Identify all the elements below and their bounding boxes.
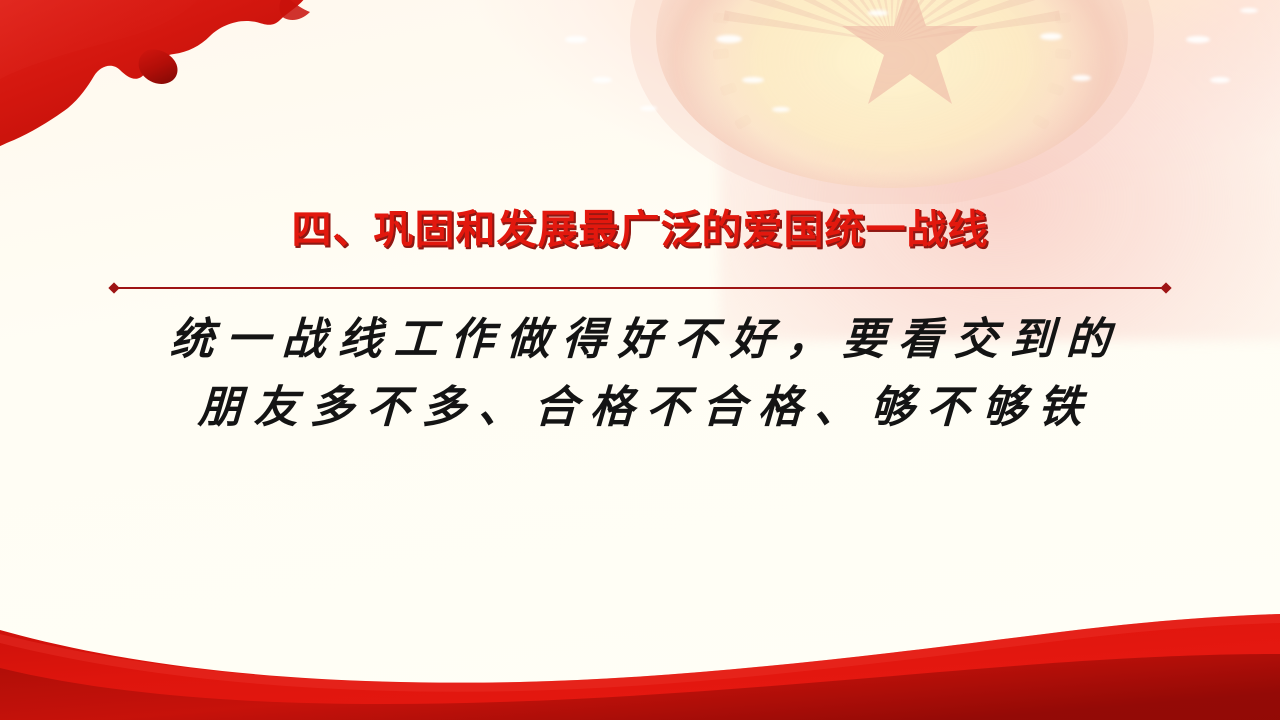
page-title-text: 四、巩固和发展最广泛的爱国统一战线 bbox=[292, 205, 989, 255]
divider-rule bbox=[116, 287, 1164, 289]
quote-line-1: 统一战线工作做得好不好，要看交到的 bbox=[0, 306, 1280, 374]
slide-canvas: 四、巩固和发展最广泛的爱国统一战线 统一战线工作做得好不好，要看交到的 朋友多不… bbox=[0, 0, 1280, 720]
sunburst-star-emblem bbox=[612, 0, 1172, 204]
red-silk-ribbon bbox=[0, 0, 388, 182]
page-title: 四、巩固和发展最广泛的爱国统一战线 bbox=[0, 205, 1280, 255]
divider-diamond-right bbox=[1160, 282, 1171, 293]
quote-block: 统一战线工作做得好不好，要看交到的 朋友多不多、合格不合格、够不够铁 bbox=[0, 306, 1280, 442]
quote-line-2: 朋友多不多、合格不合格、够不够铁 bbox=[0, 374, 1280, 442]
title-divider bbox=[110, 282, 1170, 294]
red-wave-bottom bbox=[0, 590, 1280, 720]
